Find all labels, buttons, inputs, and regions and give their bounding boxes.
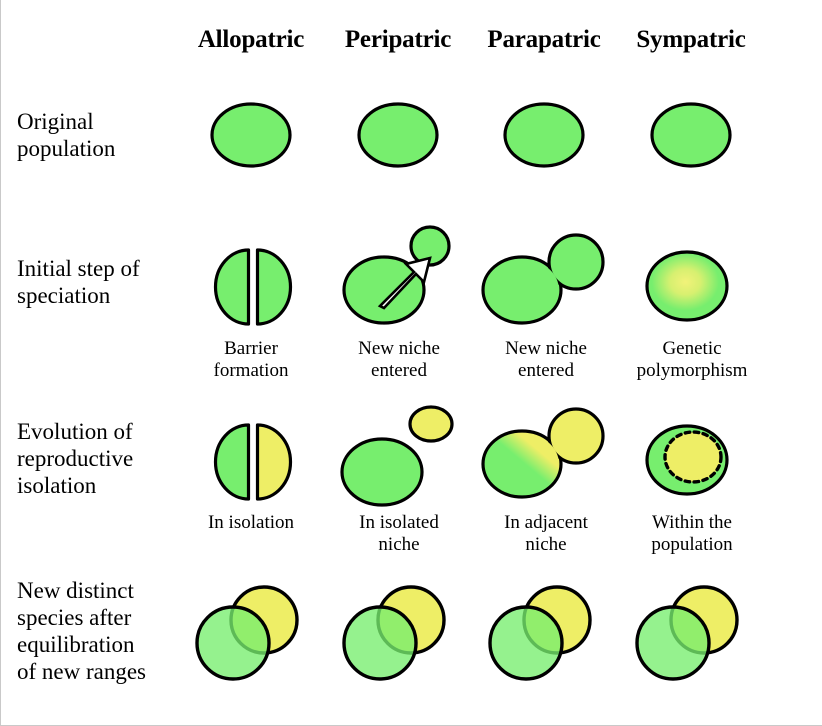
caption-initial-step-sympatric: Genetic polymorphism [607,338,777,382]
half-ellipse-left-green [216,425,249,499]
figure-new-species-parapatric [464,578,624,688]
row-label-initial-step-of-speciation: Initial step of speciation [17,255,197,309]
column-header-sympatric: Sympatric [611,25,771,55]
caption-line: formation [166,360,336,382]
caption-reproductive-isolation-sympatric: Within the population [607,512,777,556]
row-label-line: Evolution of [17,418,197,445]
column-header-peripatric: Peripatric [318,25,478,55]
column-header-parapatric: Parapatric [464,25,624,55]
row-label-line: equilibration [17,631,197,658]
merged-blobs [483,235,603,323]
caption-reproductive-isolation-peripatric: In isolated niche [314,512,484,556]
caption-line: Within the [607,512,777,534]
caption-line: polymorphism [607,360,777,382]
row-label-line: of new ranges [17,658,197,685]
genetic-polymorphism-blob [647,252,727,320]
row-label-new-distinct-species: New distinct species after equilibration… [17,577,197,685]
caption-line: niche [461,534,631,556]
figure-original-population-sympatric [611,92,771,202]
figure-initial-step-sympatric [611,236,771,346]
caption-line: entered [314,360,484,382]
row-label-line: Initial step of [17,255,197,282]
caption-line: New niche [314,338,484,360]
row-label-original-population: Original population [17,108,197,162]
half-ellipse-right [258,250,291,324]
caption-line: niche [314,534,484,556]
figure-new-species-allopatric [171,578,331,688]
isolated-niche-blob [410,407,452,441]
figure-reproductive-isolation-parapatric [464,400,624,510]
caption-line: Genetic [607,338,777,360]
row-label-line: population [17,135,197,162]
column-header-allopatric: Allopatric [171,25,331,55]
figure-reproductive-isolation-sympatric [611,410,771,520]
figure-original-population-peripatric [318,92,478,202]
row-label-line: Original [17,108,197,135]
figure-initial-step-peripatric [318,218,478,328]
row-label-line: isolation [17,472,197,499]
row-label-line: species after [17,604,197,631]
caption-line: Barrier [166,338,336,360]
caption-line: In adjacent [461,512,631,534]
species-a-range [344,607,416,679]
caption-initial-step-parapatric: New niche entered [461,338,631,382]
figure-reproductive-isolation-allopatric [171,405,331,515]
row-label-line: New distinct [17,577,197,604]
caption-initial-step-peripatric: New niche entered [314,338,484,382]
row-label-evolution-of-reproductive-isolation: Evolution of reproductive isolation [17,418,197,499]
figure-reproductive-isolation-peripatric [318,395,478,505]
merged-blobs-adjacent [483,409,603,497]
caption-initial-step-allopatric: Barrier formation [166,338,336,382]
figure-original-population-parapatric [464,92,624,202]
figure-original-population-allopatric [171,92,331,202]
within-population-dotted-blob [665,432,721,482]
figure-new-species-sympatric [611,578,771,688]
species-a-range [197,607,269,679]
caption-line: In isolated [314,512,484,534]
caption-line: population [607,534,777,556]
row-label-line: reproductive [17,445,197,472]
figure-initial-step-parapatric [464,226,624,336]
half-ellipse-right-yellow [258,425,291,499]
species-a-range [490,607,562,679]
caption-reproductive-isolation-parapatric: In adjacent niche [461,512,631,556]
caption-line: In isolation [166,512,336,534]
speciation-diagram: Allopatric Peripatric Parapatric Sympatr… [0,0,822,726]
caption-reproductive-isolation-allopatric: In isolation [166,512,336,534]
species-a-range [637,607,709,679]
caption-line: New niche [461,338,631,360]
figure-new-species-peripatric [318,578,478,688]
row-label-line: speciation [17,282,197,309]
caption-line: entered [461,360,631,382]
figure-initial-step-allopatric [171,230,331,340]
half-ellipse-left [216,250,249,324]
